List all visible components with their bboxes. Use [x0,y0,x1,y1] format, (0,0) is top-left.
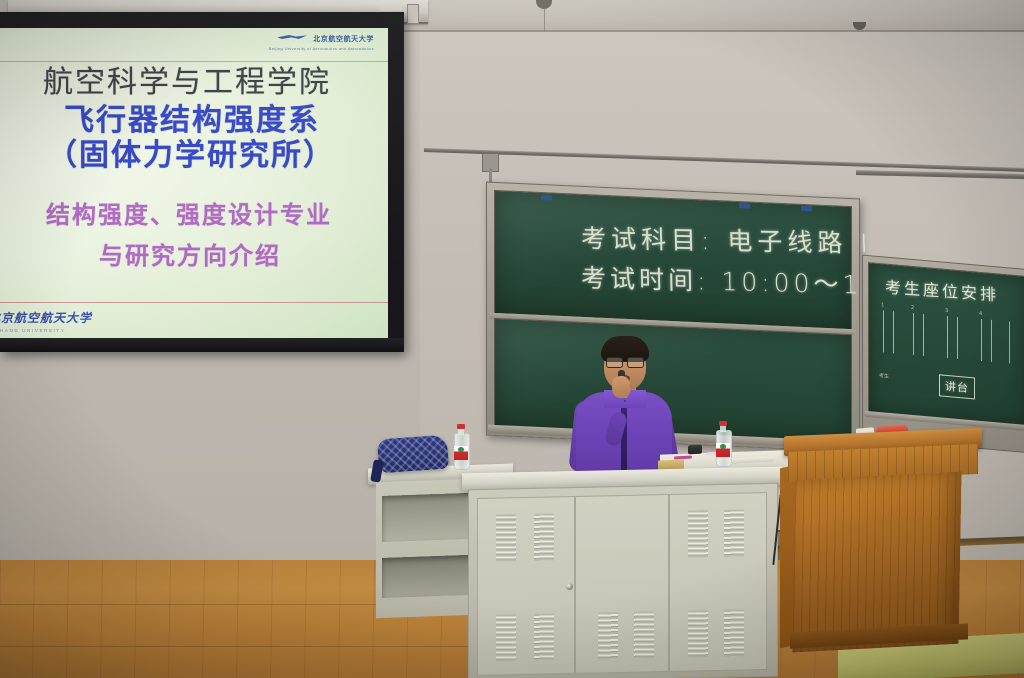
blackboard-right-panel: 考生座位安排 1 2 3 4 考生 讲台 [868,262,1024,428]
seat-label: 4 [979,311,982,317]
slide-footer-en: BEIHANG UNIVERSITY [0,328,65,333]
slide-footer-cn: 北京航空航天大学 [0,309,92,326]
cabinet-vent [496,514,516,561]
seat-column [913,313,914,355]
cabinet-vent [724,509,744,556]
bottle-logo-icon [720,444,726,449]
seat-column [947,316,948,358]
seat-column [923,314,924,356]
slide-subtitle-line1: 结构强度、强度设计专业 [0,195,388,230]
cabinet-vent [598,612,618,659]
plaid-bag [377,435,449,474]
chalk-text-seating-title: 考生座位安排 [885,274,999,306]
seat-label: 3 [945,308,948,314]
cabinet-door-left[interactable] [477,496,575,676]
cabinet-vent [724,609,744,656]
glasses-icon [606,357,644,366]
wooden-lectern [780,432,985,650]
seat-column [883,310,884,352]
magnet-icon [541,195,552,200]
seat-label: 考生 [879,372,889,380]
magnet-icon-3 [801,206,812,211]
seat-label: 1 [881,302,884,308]
bottle-logo-icon [458,447,464,452]
blackboard-eraser [688,445,702,455]
blackboard-right: 考生座位安排 1 2 3 4 考生 讲台 [862,255,1024,452]
university-logo: 北京航空航天大学 Beijing University of Aeronauti… [269,33,374,51]
metal-cabinet [462,470,782,678]
glasses-lens-left [606,357,623,368]
cabinet-vent [634,611,654,658]
water-bottle-left [454,424,468,468]
slide-body: 航空科学与工程学院 飞行器结构强度系 （固体力学研究所） 结构强度、强度设计专业… [0,66,388,271]
cabinet-vent [688,610,708,657]
cabinet-vent [688,510,708,557]
logo-chinese-name: 北京航空航天大学 [313,34,374,44]
cabinet-vent [496,614,516,661]
seat-column [1009,321,1010,363]
slide-footer: 北京航空航天大学 BEIHANG UNIVERSITY [0,309,92,333]
classroom-photo: 北京航空航天大学 Beijing University of Aeronauti… [0,0,1024,678]
cabinet-body [468,483,778,678]
seat-column [893,311,894,353]
bottle-cap [719,421,727,426]
screen-weight-bar [0,338,404,352]
logo-english-name: Beijing University of Aeronautics and As… [269,46,374,51]
seat-column [957,317,958,359]
cabinet-vent [534,513,554,560]
seat-column [991,320,992,362]
glasses-lens-right [627,357,644,368]
slide-title-line3: （固体力学研究所） [0,139,388,173]
screen-frame: 北京航空航天大学 Beijing University of Aeronauti… [0,12,404,352]
water-bottle-right [716,421,730,465]
slide-subtitle-line2: 与研究方向介绍 [0,236,388,271]
screen-case-mount [407,4,419,24]
cabinet-door-right[interactable] [669,492,767,672]
seat-column [981,319,982,361]
screen-surface: 北京航空航天大学 Beijing University of Aeronauti… [0,28,388,338]
cabinet-door-middle[interactable] [575,494,669,674]
blackboard-upper-panel: 考试科目: 电子线路 I 考试时间: 10:00～12:00 [494,190,852,330]
floor-seam [0,646,480,647]
seat-label: 2 [911,305,914,311]
presenter-shirt-placket [621,400,627,478]
slide-title-line1: 航空科学与工程学院 [0,66,388,100]
screen-case-knob [380,6,402,11]
chalk-text-exam-subject: 考试科目: 电子线路 I [581,219,874,260]
slide-divider-bottom [0,302,388,303]
slide-header: 北京航空航天大学 Beijing University of Aeronauti… [0,28,388,62]
beihang-logo-icon [277,33,307,44]
cabinet-vent [534,613,554,660]
slide-title-line2: 飞行器结构强度系 [0,104,388,138]
cabinet-lock-icon[interactable] [566,583,573,590]
slide-divider-top [0,61,388,62]
magnet-icon-2 [739,203,750,208]
bottle-cap [457,424,465,429]
presenter-hand [611,375,631,399]
chalk-text-podium: 讲台 [939,374,975,399]
